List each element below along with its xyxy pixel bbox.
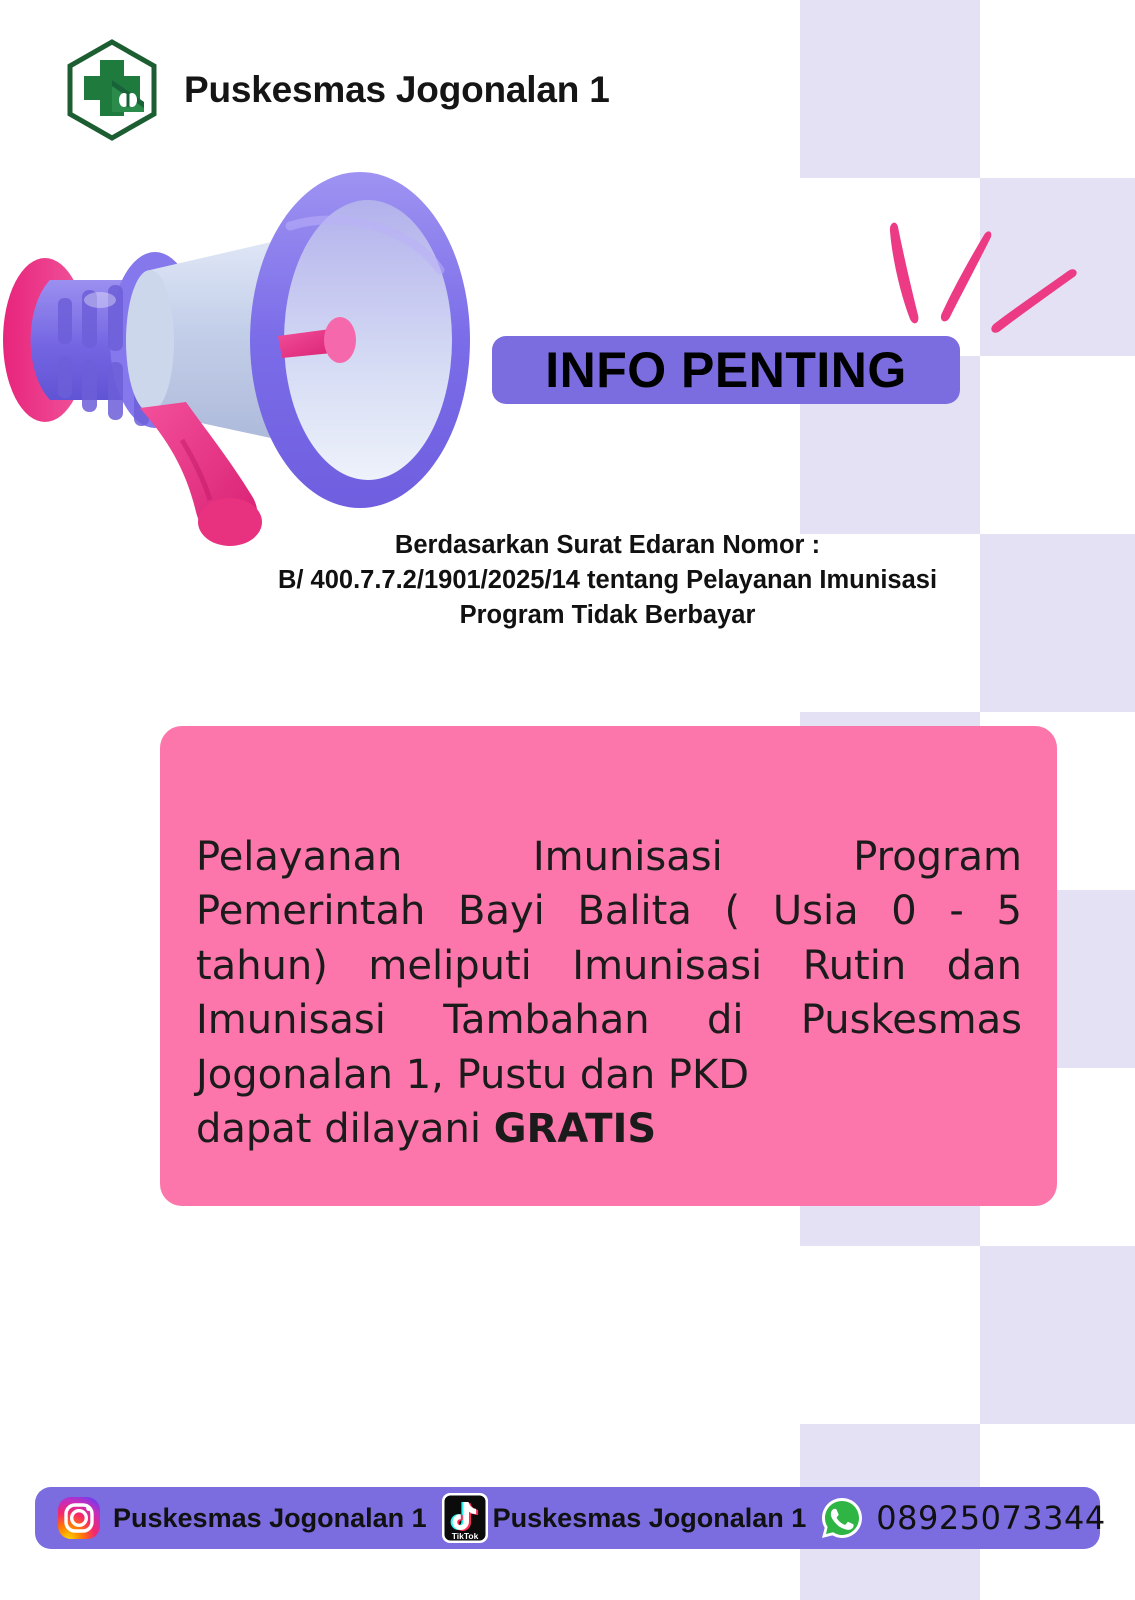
tiktok-handle: Puskesmas Jogonalan 1 [493, 1503, 807, 1534]
announcement-body: Pelayanan Imunisasi Program Pemerintah B… [196, 830, 1022, 1156]
tiktok-icon-label: TikTok [451, 1531, 478, 1541]
pink-burst-strokes-icon [860, 205, 1090, 375]
whatsapp-icon [820, 1496, 864, 1540]
announcement-paragraph: Pelayanan Imunisasi Program Pemerintah B… [196, 834, 1022, 1098]
announcement-last-line: dapat dilayani GRATIS [196, 1102, 1022, 1156]
checker-cell [800, 0, 980, 178]
footer-whatsapp[interactable]: 08925073344 [806, 1496, 1105, 1540]
instagram-icon [57, 1496, 101, 1540]
gratis-emphasis: GRATIS [494, 1106, 656, 1152]
footer-instagram[interactable]: Puskesmas Jogonalan 1 [35, 1496, 427, 1540]
social-footer: Puskesmas Jogonalan 1 TikTok Puskesmas J… [35, 1487, 1100, 1549]
announcement-last-line-prefix: dapat dilayani [196, 1106, 494, 1152]
subtitle-line-2: B/ 400.7.7.2/1901/2025/14 tentang Pelaya… [120, 563, 1095, 598]
checker-cell [980, 1246, 1135, 1424]
poster-canvas: Puskesmas Jogonalan 1 [0, 0, 1135, 1600]
health-center-hexagon-cross-logo-icon [62, 38, 162, 142]
footer-tiktok[interactable]: TikTok Puskesmas Jogonalan 1 [427, 1492, 807, 1544]
subtitle-line-1: Berdasarkan Surat Edaran Nomor : [120, 528, 1095, 563]
tiktok-icon: TikTok [441, 1492, 489, 1544]
whatsapp-number: 08925073344 [876, 1499, 1105, 1537]
subtitle-line-3: Program Tidak Berbayar [120, 598, 1095, 633]
circular-letter-reference: Berdasarkan Surat Edaran Nomor : B/ 400.… [120, 528, 1095, 634]
announcement-card: Pelayanan Imunisasi Program Pemerintah B… [160, 726, 1057, 1206]
info-banner-label: INFO PENTING [545, 345, 907, 395]
page-title: Puskesmas Jogonalan 1 [184, 69, 610, 111]
header: Puskesmas Jogonalan 1 [62, 38, 610, 142]
instagram-handle: Puskesmas Jogonalan 1 [113, 1503, 427, 1534]
megaphone-3d-icon [0, 140, 520, 570]
